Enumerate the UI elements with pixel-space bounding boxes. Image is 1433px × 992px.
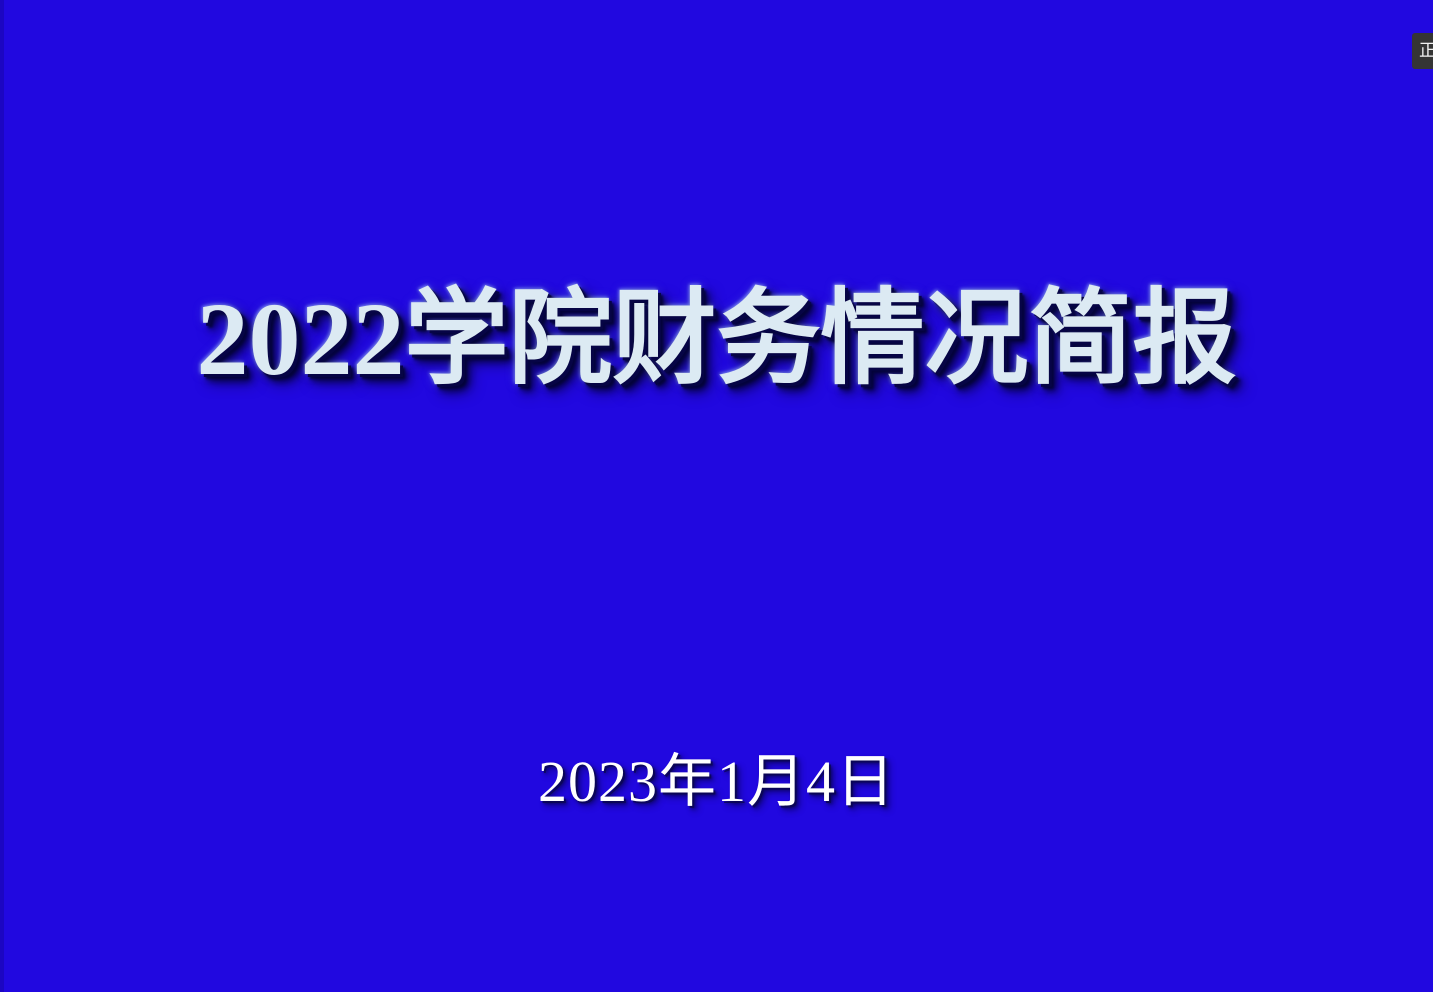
page-title: 2022学院财务情况简报	[196, 282, 1236, 398]
presentation-slide: 2022学院财务情况简报 2023年1月4日 正在录制	[0, 0, 1433, 992]
slide-title-block: 2022学院财务情况简报	[0, 282, 1433, 398]
recording-status-label: 正在录制	[1419, 33, 1433, 69]
left-edge-strip	[0, 0, 4, 992]
recording-status-badge[interactable]: 正在录制	[1412, 33, 1433, 69]
slide-date: 2023年1月4日	[538, 752, 895, 813]
slide-date-block: 2023年1月4日	[0, 752, 1433, 813]
